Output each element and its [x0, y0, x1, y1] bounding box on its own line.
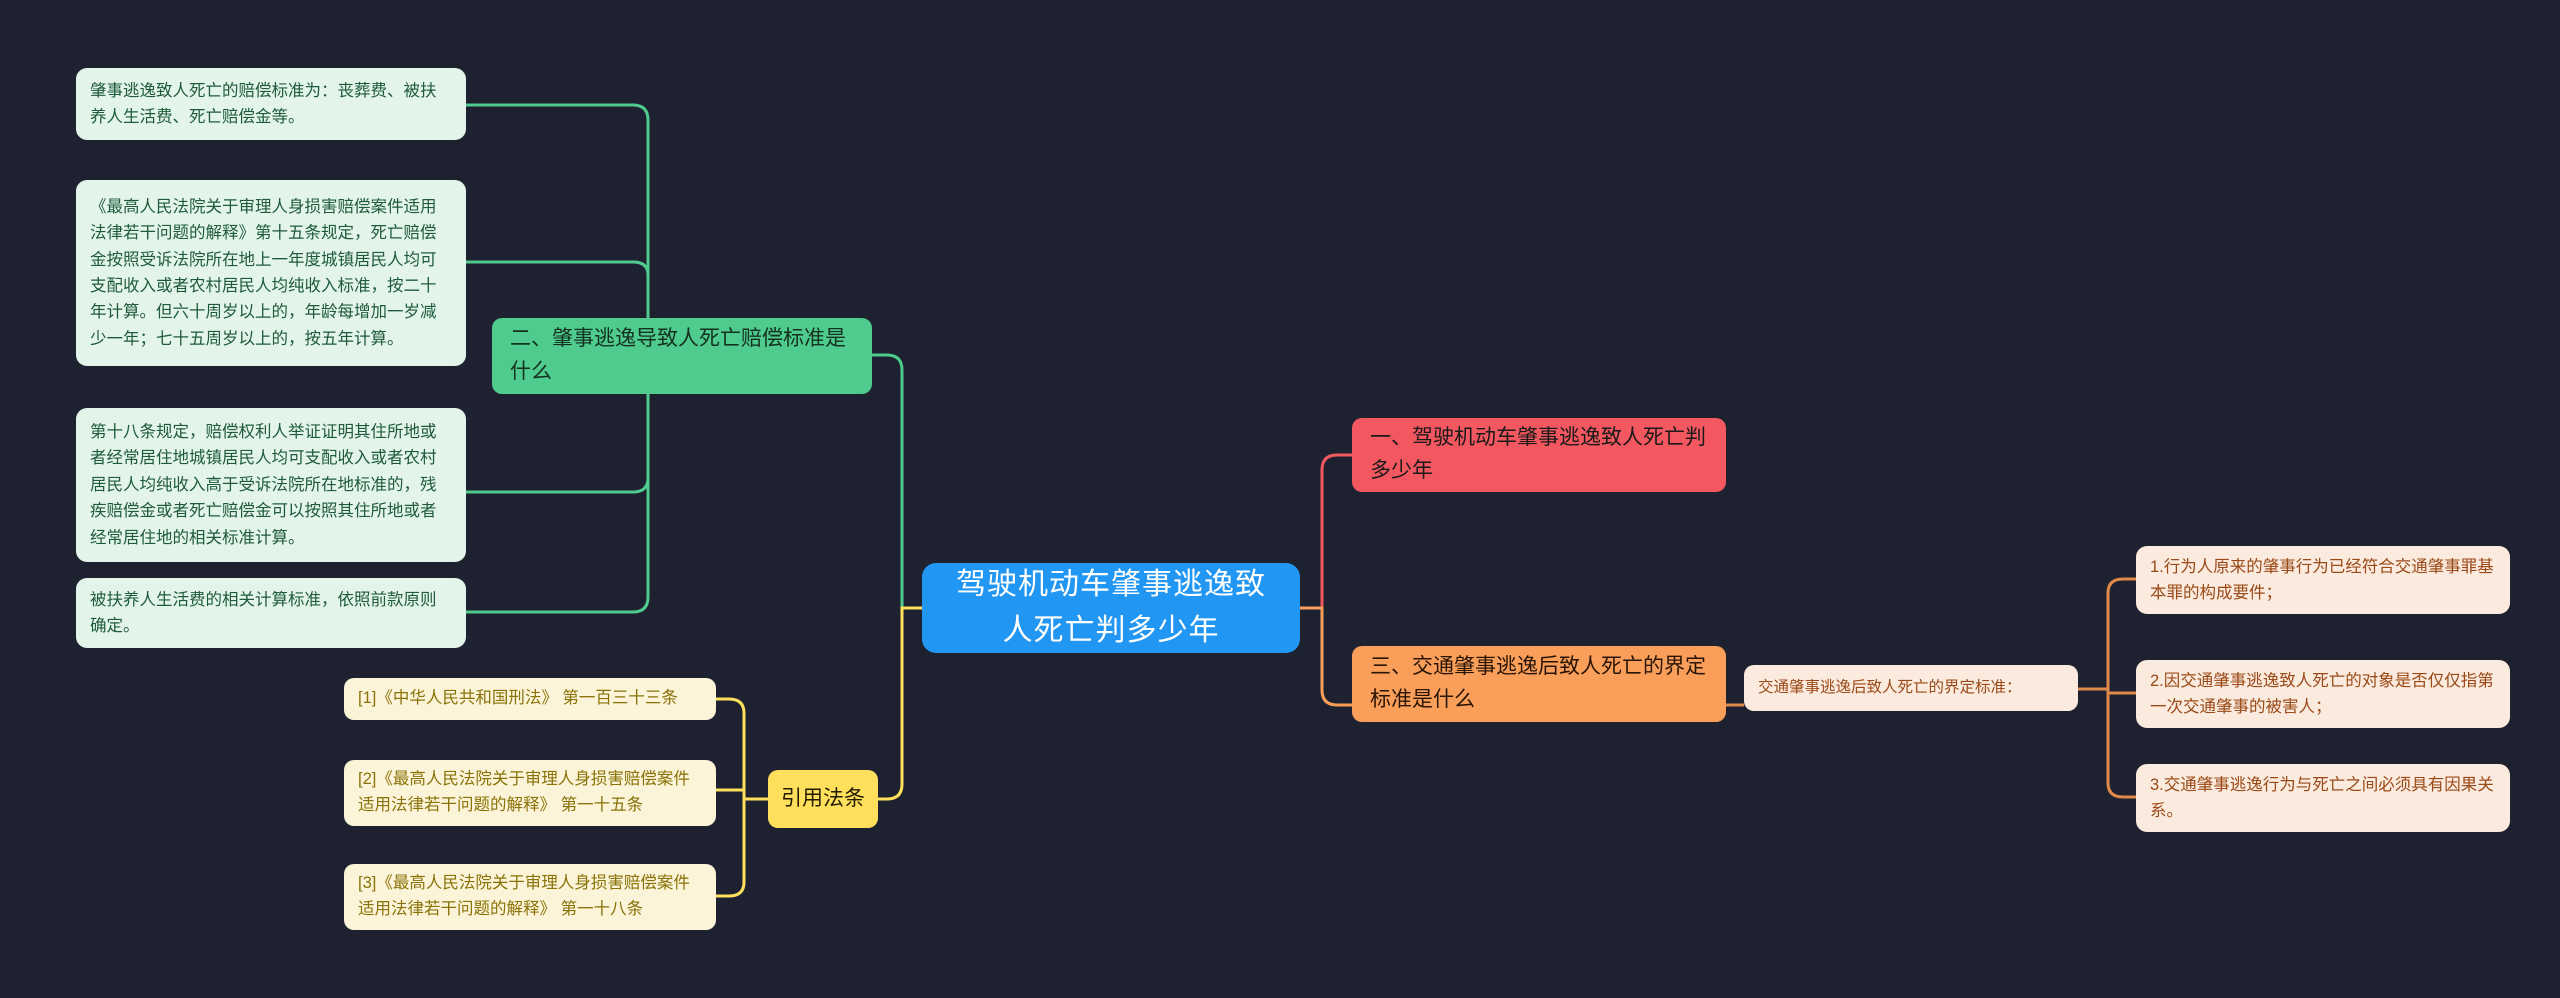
wire-yellow-leaf-3 — [716, 799, 756, 896]
branch-node-yellow-label: 引用法条 — [781, 783, 865, 816]
yellow-leaf-2-text: [2]《最高人民法院关于审理人身损害赔偿案件适用法律若干问题的解释》 第一十五条 — [358, 767, 702, 818]
green-leaf-2-text: 《最高人民法院关于审理人身损害赔偿案件适用法律若干问题的解释》第十五条规定，死亡… — [90, 194, 452, 352]
orange-leaf-2-text: 2.因交通肇事逃逸致人死亡的对象是否仅仅指第一次交通肇事的被害人； — [2150, 668, 2496, 721]
yellow-leaf-1[interactable]: [1]《中华人民共和国刑法》 第一百三十三条 — [344, 678, 716, 720]
wire-root-to-yellow — [872, 608, 922, 799]
orange-leaf-3[interactable]: 3.交通肇事逃逸行为与死亡之间必须具有因果关系。 — [2136, 764, 2510, 832]
green-leaf-4-text: 被扶养人生活费的相关计算标准，依照前款原则确定。 — [90, 587, 452, 640]
branch-node-green[interactable]: 二、肇事逃逸导致人死亡赔偿标准是什么 — [492, 318, 872, 394]
wire-orange-leaf-2 — [2098, 689, 2136, 693]
orange-leaf-3-text: 3.交通肇事逃逸行为与死亡之间必须具有因果关系。 — [2150, 772, 2496, 825]
orange-intro-pill-label: 交通肇事逃逸后致人死亡的界定标准： — [1758, 676, 2022, 700]
orange-leaf-1[interactable]: 1.行为人原来的肇事行为已经符合交通肇事罪基本罪的构成要件； — [2136, 546, 2510, 614]
wire-root-to-green — [872, 355, 922, 608]
branch-node-red[interactable]: 一、驾驶机动车肇事逃逸致人死亡判多少年 — [1352, 418, 1726, 492]
orange-intro-pill[interactable]: 交通肇事逃逸后致人死亡的界定标准： — [1744, 665, 2078, 711]
wire-root-to-red — [1300, 455, 1352, 608]
wire-orange-leaf-3 — [2098, 689, 2136, 797]
wire-yellow-leaf-2 — [716, 790, 756, 799]
wire-yellow-leaf-1 — [716, 699, 756, 799]
green-leaf-2[interactable]: 《最高人民法院关于审理人身损害赔偿案件适用法律若干问题的解释》第十五条规定，死亡… — [76, 180, 466, 366]
wire-root-to-orange — [1300, 608, 1352, 705]
branch-node-orange-label: 三、交通肇事逃逸后致人死亡的界定标准是什么 — [1370, 651, 1708, 716]
branch-node-orange[interactable]: 三、交通肇事逃逸后致人死亡的界定标准是什么 — [1352, 646, 1726, 722]
green-leaf-1[interactable]: 肇事逃逸致人死亡的赔偿标准为：丧葬费、被扶养人生活费、死亡赔偿金等。 — [76, 68, 466, 140]
green-leaf-1-text: 肇事逃逸致人死亡的赔偿标准为：丧葬费、被扶养人生活费、死亡赔偿金等。 — [90, 78, 452, 131]
green-leaf-3[interactable]: 第十八条规定，赔偿权利人举证证明其住所地或者经常居住地城镇居民人均可支配收入或者… — [76, 408, 466, 562]
orange-leaf-1-text: 1.行为人原来的肇事行为已经符合交通肇事罪基本罪的构成要件； — [2150, 554, 2496, 607]
wire-orange-leaf-1 — [2098, 579, 2136, 689]
branch-node-green-label: 二、肇事逃逸导致人死亡赔偿标准是什么 — [510, 323, 854, 388]
yellow-leaf-3-text: [3]《最高人民法院关于审理人身损害赔偿案件适用法律若干问题的解释》 第一十八条 — [358, 871, 702, 922]
yellow-leaf-3[interactable]: [3]《最高人民法院关于审理人身损害赔偿案件适用法律若干问题的解释》 第一十八条 — [344, 864, 716, 930]
yellow-leaf-1-text: [1]《中华人民共和国刑法》 第一百三十三条 — [358, 686, 678, 712]
orange-leaf-2[interactable]: 2.因交通肇事逃逸致人死亡的对象是否仅仅指第一次交通肇事的被害人； — [2136, 660, 2510, 728]
root-node-label: 驾驶机动车肇事逃逸致人死亡判多少年 — [942, 562, 1280, 655]
mindmap-canvas: 驾驶机动车肇事逃逸致人死亡判多少年 一、驾驶机动车肇事逃逸致人死亡判多少年 三、… — [0, 0, 2560, 998]
branch-node-yellow[interactable]: 引用法条 — [768, 770, 878, 828]
branch-node-red-label: 一、驾驶机动车肇事逃逸致人死亡判多少年 — [1370, 422, 1708, 487]
green-leaf-3-text: 第十八条规定，赔偿权利人举证证明其住所地或者经常居住地城镇居民人均可支配收入或者… — [90, 419, 452, 551]
green-leaf-4[interactable]: 被扶养人生活费的相关计算标准，依照前款原则确定。 — [76, 578, 466, 648]
yellow-leaf-2[interactable]: [2]《最高人民法院关于审理人身损害赔偿案件适用法律若干问题的解释》 第一十五条 — [344, 760, 716, 826]
root-node[interactable]: 驾驶机动车肇事逃逸致人死亡判多少年 — [922, 563, 1300, 653]
